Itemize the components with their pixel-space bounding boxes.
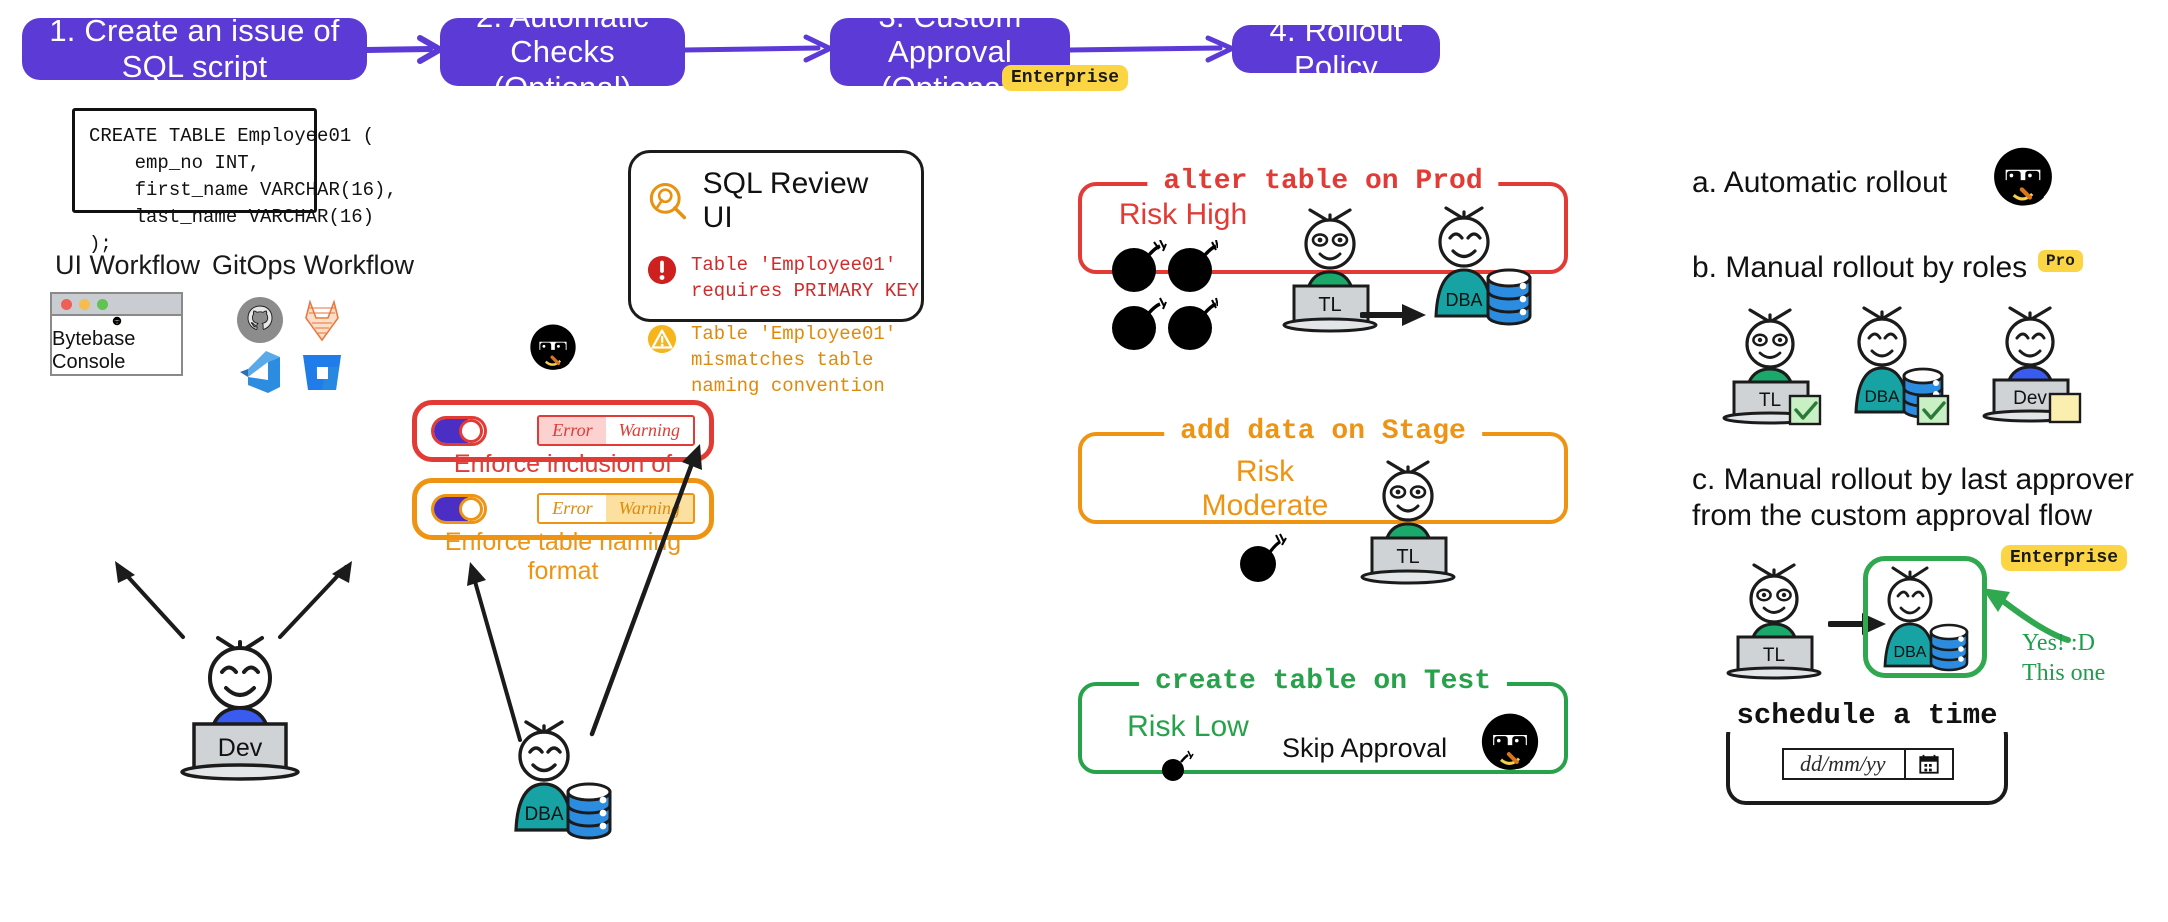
arrow-dev-to-gitops-workflow (272, 555, 362, 645)
browser-titlebar (52, 294, 181, 316)
sql-review-warning-text: Table 'Employee01' mismatches table nami… (691, 322, 896, 399)
rollout-option-b-pro-badge: Pro (2038, 250, 2083, 272)
rollout-option-a: a. Automatic rollout (1692, 165, 1947, 201)
dba-actor-figure-prod: DBA (1420, 200, 1545, 335)
sql-review-title: SQL Review UI (703, 167, 905, 235)
role-row-dev: Dev (1972, 300, 2102, 430)
sql-code-box: CREATE TABLE Employee01 ( emp_no INT, fi… (72, 108, 317, 213)
role-row-dba: DBA (1840, 300, 1970, 430)
schedule-date-input[interactable]: dd/mm/yy (1782, 748, 1954, 780)
approval-group-test-title: create table on Test (1139, 666, 1507, 697)
arrow-step2-to-step3 (682, 30, 838, 70)
rollout-option-b: b. Manual rollout by roles (1692, 250, 2027, 286)
browser-caption: Bytebase Console (52, 328, 181, 374)
sql-review-error-text: Table 'Employee01' requires PRIMARY KEY (691, 253, 919, 304)
callout-text: Yes! :D This one (2022, 628, 2105, 688)
close-dot (61, 299, 72, 310)
bitbucket-icon[interactable] (298, 348, 346, 396)
step-4-pill[interactable]: 4. Rollout Policy (1232, 25, 1440, 73)
skip-approval-label: Skip Approval (1282, 733, 1447, 764)
rule-toggle-primary-key[interactable] (431, 416, 487, 446)
schedule-a-time-title: schedule a time (1720, 699, 2013, 732)
dev-actor-figure: Dev (150, 620, 330, 790)
dba-actor-label: DBA (524, 804, 563, 825)
toggle-knob (459, 497, 483, 521)
risk-label-prod: Risk High (1098, 198, 1268, 232)
dba-actor-label: DBA (1445, 290, 1482, 310)
approval-group-stage-title: add data on Stage (1164, 416, 1482, 447)
bomb-icon-low (1160, 748, 1196, 784)
tl-actor-label: TL (1396, 546, 1419, 568)
sql-review-warning-row: Table 'Employee01' mismatches table nami… (647, 322, 905, 399)
dev-actor-label: Dev (2013, 388, 2047, 409)
calendar-icon[interactable] (1904, 750, 1952, 778)
approver-flow-tl: TL (1718, 555, 1838, 685)
azure-devops-icon[interactable] (236, 348, 284, 396)
risk-label-test: Risk Low (1098, 710, 1278, 744)
sql-review-title-row: SQL Review UI (647, 167, 905, 235)
arrow-step3-to-step4 (1068, 30, 1240, 70)
rollout-option-c-enterprise-badge: Enterprise (2001, 545, 2127, 571)
database-icon (568, 784, 610, 838)
step-2-pill[interactable]: 2. Automatic Checks (Optional) (440, 18, 685, 86)
error-icon (647, 255, 677, 285)
role-row-tl: TL (1712, 300, 1836, 430)
bomb-icons-high (1108, 240, 1218, 358)
gitlab-icon[interactable] (298, 296, 346, 344)
zoom-dot (97, 299, 108, 310)
arrow-dba-to-rule-primarykey (582, 440, 712, 740)
sql-review-card: SQL Review UI Table 'Employee01' require… (628, 150, 924, 322)
arrow-step1-to-step2 (364, 30, 448, 70)
bytebase-avatar-test (1474, 708, 1546, 780)
bytebase-avatar-col2 (524, 320, 582, 378)
arrow-dev-to-ui-workflow (105, 555, 195, 645)
dev-actor-label: Dev (218, 734, 263, 762)
bomb-icon-moderate (1238, 530, 1288, 586)
tl-actor-label: TL (1763, 645, 1785, 666)
magnifier-icon (647, 180, 689, 222)
step-1-pill[interactable]: 1. Create an issue of SQL script (22, 18, 367, 80)
database-icon (1931, 625, 1967, 670)
warning-icon (647, 324, 677, 354)
dba-actor-label: DBA (1865, 387, 1901, 406)
bytebase-console-window[interactable]: Bytebase Console (50, 292, 183, 376)
minimize-dot (79, 299, 90, 310)
step-1-label: 1. Create an issue of SQL script (40, 13, 349, 84)
dba-actor-label: DBA (1894, 644, 1927, 661)
bytebase-avatar (101, 316, 133, 326)
approval-group-prod-title: alter table on Prod (1147, 166, 1498, 197)
sql-review-error-row: Table 'Employee01' requires PRIMARY KEY (647, 253, 905, 304)
risk-label-stage: Risk Moderate (1170, 455, 1360, 522)
github-icon[interactable] (236, 296, 284, 344)
browser-content: Bytebase Console (52, 316, 181, 374)
database-icon (1488, 270, 1530, 324)
rollout-option-c: c. Manual rollout by last approver from … (1692, 462, 2162, 534)
schedule-date-placeholder: dd/mm/yy (1784, 751, 1904, 777)
rule-toggle-table-naming[interactable] (431, 494, 487, 524)
tl-actor-figure-stage: TL (1350, 450, 1474, 590)
tl-actor-label: TL (1318, 294, 1341, 316)
bytebase-avatar-rollout (1986, 142, 2060, 216)
step-4-label: 4. Rollout Policy (1250, 13, 1422, 84)
ui-workflow-label: UI Workflow (55, 250, 200, 281)
toggle-knob (459, 419, 483, 443)
gitops-workflow-label: GitOps Workflow (212, 250, 414, 281)
step-2-label: 2. Automatic Checks (Optional) (458, 0, 667, 105)
tl-actor-label: TL (1759, 390, 1781, 411)
pending-badge (2050, 394, 2080, 422)
arrow-dba-to-rule-naming (464, 556, 534, 746)
